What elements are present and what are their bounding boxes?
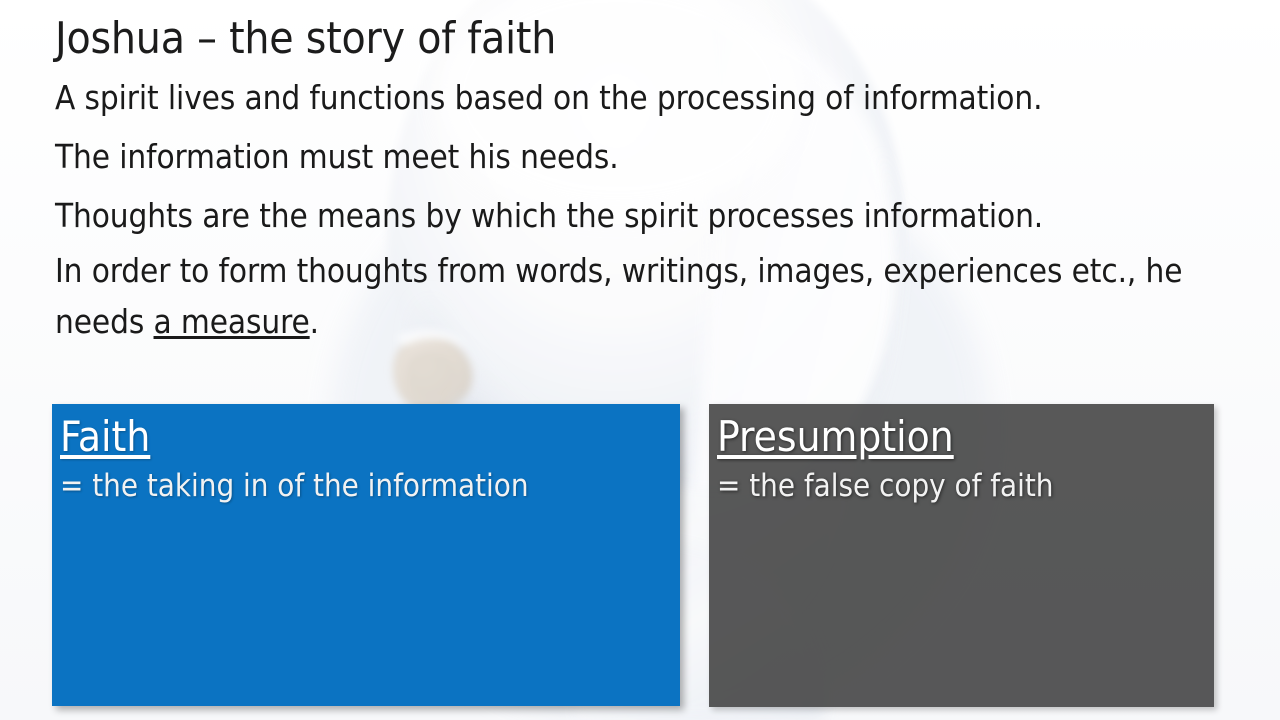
body-line-4-tail: . — [310, 302, 319, 341]
presumption-subtitle: = the false copy of faith — [717, 464, 1214, 508]
faith-heading: Faith — [60, 410, 150, 464]
text-content: Joshua – the story of faith A spirit liv… — [55, 10, 1235, 347]
presumption-heading: Presumption — [717, 410, 954, 464]
presentation-slide: Joshua – the story of faith A spirit liv… — [0, 0, 1280, 720]
concept-box-presumption: Presumption = the false copy of faith — [709, 404, 1214, 707]
body-line-4: In order to form thoughts from words, wr… — [55, 245, 1235, 347]
page-title: Joshua – the story of faith — [55, 10, 1235, 68]
body-line-1: A spirit lives and functions based on th… — [55, 68, 1235, 127]
concept-box-faith: Faith = the taking in of the information — [52, 404, 680, 706]
body-line-3: Thoughts are the means by which the spir… — [55, 186, 1235, 245]
body-line-4-underlined-term: a measure — [154, 302, 310, 341]
body-line-2: The information must meet his needs. — [55, 127, 1235, 186]
faith-subtitle: = the taking in of the information — [60, 464, 680, 508]
